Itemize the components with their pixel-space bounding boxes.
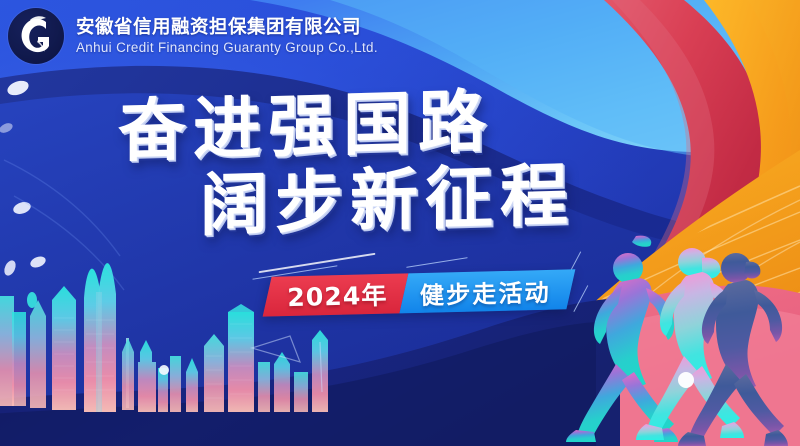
headline-line-2: 阔步新征程 <box>200 160 688 240</box>
moon-dot <box>159 365 169 375</box>
subtitle-ribbon: 2024年 健步走活动 <box>263 269 575 316</box>
subtitle-year-text: 2024年 <box>287 276 388 314</box>
subtitle-activity-text: 健步走活动 <box>419 272 551 310</box>
company-names: 安徽省信用融资担保集团有限公司 Anhui Credit Financing G… <box>76 17 378 55</box>
promotional-banner: 安徽省信用融资担保集团有限公司 Anhui Credit Financing G… <box>0 0 800 446</box>
headline: 奋进强国路 阔步新征程 <box>118 92 688 233</box>
headline-line-1: 奋进强国路 <box>118 84 688 167</box>
subtitle-activity-badge: 健步走活动 <box>399 269 575 313</box>
company-name-en: Anhui Credit Financing Guaranty Group Co… <box>76 41 378 55</box>
company-g-logo-icon <box>8 8 64 64</box>
header-logo-block: 安徽省信用融资担保集团有限公司 Anhui Credit Financing G… <box>8 8 378 64</box>
company-name-cn: 安徽省信用融资担保集团有限公司 <box>76 17 378 36</box>
subtitle-year-badge: 2024年 <box>263 273 408 316</box>
